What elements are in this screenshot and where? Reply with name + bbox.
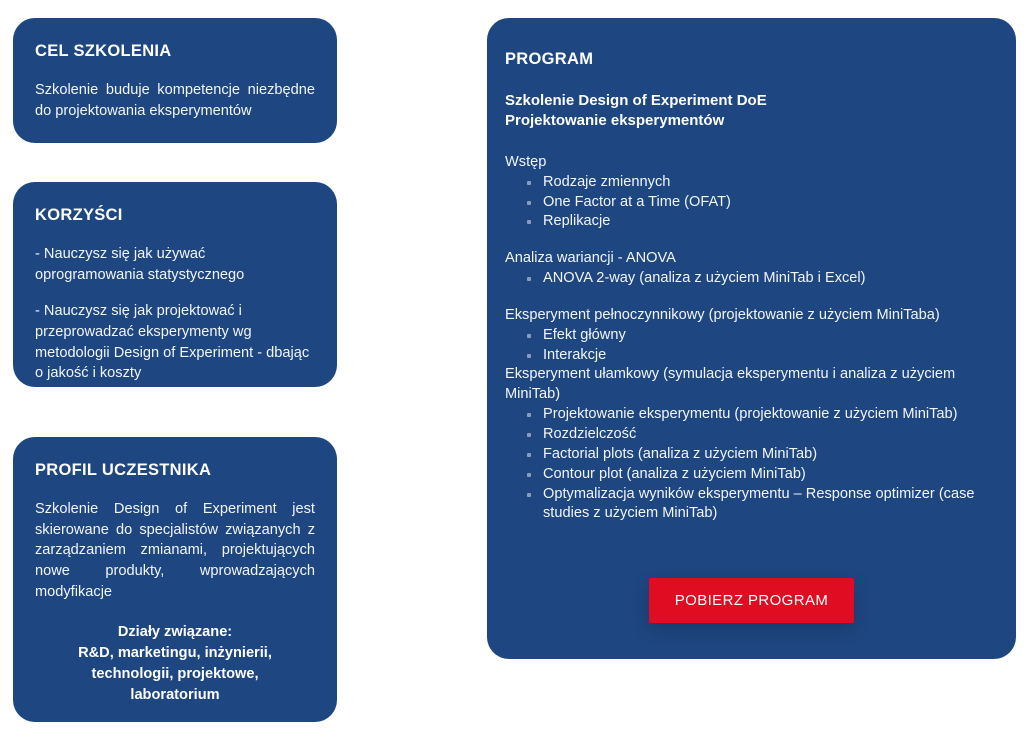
program-bullet-item: Contour plot (analiza z użyciem MiniTab) <box>527 465 998 485</box>
program-section-heading: Analiza wariancji - ANOVA <box>505 249 998 269</box>
highlight-line: R&D, marketingu, inżynierii, <box>35 643 315 664</box>
program-section: WstępRodzaje zmiennychOne Factor at a Ti… <box>505 153 998 232</box>
program-section: Eksperyment ułamkowy (symulacja eksperym… <box>505 365 998 524</box>
program-bullet-item: Rozdzielczość <box>527 425 998 445</box>
download-program-button[interactable]: POBIERZ PROGRAM <box>649 578 855 623</box>
card-title: CEL SZKOLENIA <box>35 42 315 62</box>
card-body: - Nauczysz się jak używać oprogramowania… <box>35 244 315 384</box>
program-bullet-item: Efekt główny <box>527 326 998 346</box>
card-body: Szkolenie buduje kompetencje niezbędne d… <box>35 80 315 121</box>
program-subtitle-line: Projektowanie eksperymentów <box>505 111 998 131</box>
program-subtitle-line: Szkolenie Design of Experiment DoE <box>505 91 998 111</box>
card-highlight-block: Działy związane: R&D, marketingu, inżyni… <box>35 622 315 705</box>
card-title: KORZYŚCI <box>35 206 315 226</box>
program-section-heading: Eksperyment pełnoczynnikowy (projektowan… <box>505 306 998 326</box>
program-bullet-item: Projektowanie eksperymentu (projektowani… <box>527 405 998 425</box>
card-title: PROFIL UCZESTNIKA <box>35 461 315 481</box>
card-body: Szkolenie Design of Experiment jest skie… <box>35 499 315 603</box>
panel-program: PROGRAM Szkolenie Design of Experiment D… <box>487 18 1016 659</box>
card-cel-szkolenia: CEL SZKOLENIA Szkolenie buduje kompetenc… <box>13 18 337 143</box>
card-paragraph: Szkolenie buduje kompetencje niezbędne d… <box>35 80 315 121</box>
program-section-heading: Wstęp <box>505 153 998 173</box>
program-bullet-list: Efekt głównyInterakcje <box>505 326 998 366</box>
card-paragraph: Szkolenie Design of Experiment jest skie… <box>35 499 315 603</box>
highlight-line: technologii, projektowe, <box>35 664 315 685</box>
program-bullet-item: Rodzaje zmiennych <box>527 173 998 193</box>
highlight-line: laboratorium <box>35 685 315 706</box>
program-bullet-list: Projektowanie eksperymentu (projektowani… <box>505 405 998 524</box>
program-bullet-item: One Factor at a Time (OFAT) <box>527 193 998 213</box>
program-bullet-item: Factorial plots (analiza z użyciem MiniT… <box>527 445 998 465</box>
card-paragraph: - Nauczysz się jak używać oprogramowania… <box>35 244 315 285</box>
program-subtitle: Szkolenie Design of Experiment DoE Proje… <box>505 91 998 131</box>
program-section-heading: Eksperyment ułamkowy (symulacja eksperym… <box>505 365 998 405</box>
card-profil-uczestnika: PROFIL UCZESTNIKA Szkolenie Design of Ex… <box>13 437 337 722</box>
program-section: Eksperyment pełnoczynnikowy (projektowan… <box>505 306 998 366</box>
highlight-line: Działy związane: <box>35 622 315 643</box>
program-bullet-item: Interakcje <box>527 346 998 366</box>
program-title: PROGRAM <box>505 50 998 69</box>
card-korzysci: KORZYŚCI - Nauczysz się jak używać oprog… <box>13 182 337 387</box>
program-bullet-item: ANOVA 2-way (analiza z użyciem MiniTab i… <box>527 269 998 289</box>
program-sections: WstępRodzaje zmiennychOne Factor at a Ti… <box>505 153 998 524</box>
download-button-wrap: POBIERZ PROGRAM <box>487 578 1016 623</box>
program-section: Analiza wariancji - ANOVAANOVA 2-way (an… <box>505 249 998 289</box>
program-bullet-list: Rodzaje zmiennychOne Factor at a Time (O… <box>505 173 998 233</box>
program-bullet-item: Optymalizacja wyników eksperymentu – Res… <box>527 485 998 525</box>
page-root: CEL SZKOLENIA Szkolenie buduje kompetenc… <box>0 0 1030 739</box>
card-paragraph: - Nauczysz się jak projektować i przepro… <box>35 301 315 384</box>
program-bullet-list: ANOVA 2-way (analiza z użyciem MiniTab i… <box>505 269 998 289</box>
program-bullet-item: Replikacje <box>527 212 998 232</box>
